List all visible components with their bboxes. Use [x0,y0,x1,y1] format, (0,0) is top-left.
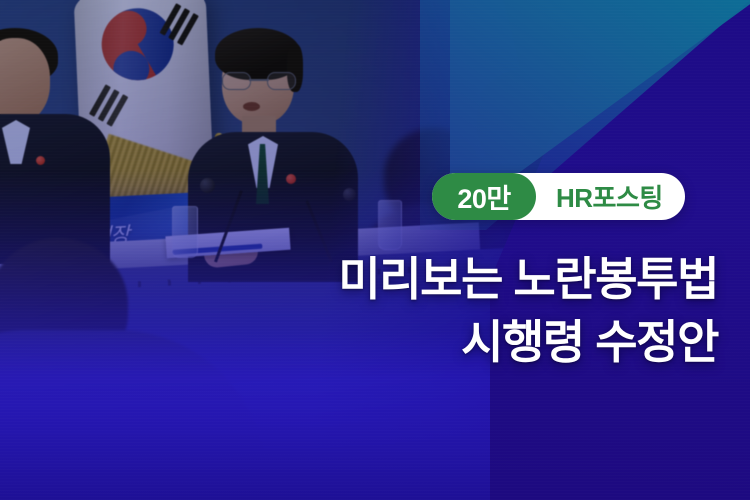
headline-line-1: 미리보는 노란봉투법 [0,248,718,311]
badge-count: 20만 [432,173,536,220]
thumbnail-card: 진짜 성장 [0,0,750,500]
headline: 미리보는 노란봉투법 시행령 수정안 [0,248,718,374]
headline-line-2: 시행령 수정안 [0,311,718,374]
status-badge: 20만 HR포스팅 [432,173,685,220]
badge-label: HR포스팅 [536,178,663,215]
